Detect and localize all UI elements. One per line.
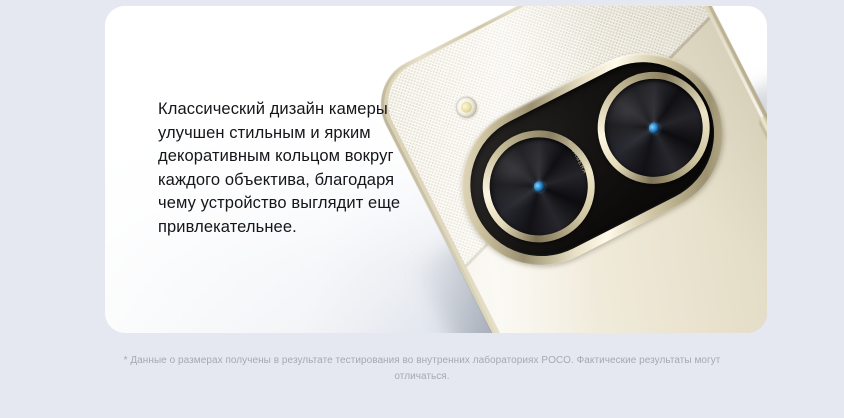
camera-lens-aperture [531,179,546,194]
hero-headline: Классический дизайн камеры улучшен стиль… [158,98,423,239]
hero-card: AI CAMERA Классический дизайн камеры улу… [105,6,767,333]
footnote: * Данные о размерах получены в результат… [0,353,844,385]
footnote-text: * Данные о размерах получены в результат… [107,353,737,385]
camera-lens-aperture [646,120,661,135]
led-flash-core [459,100,474,115]
product-image: AI CAMERA [375,6,767,333]
